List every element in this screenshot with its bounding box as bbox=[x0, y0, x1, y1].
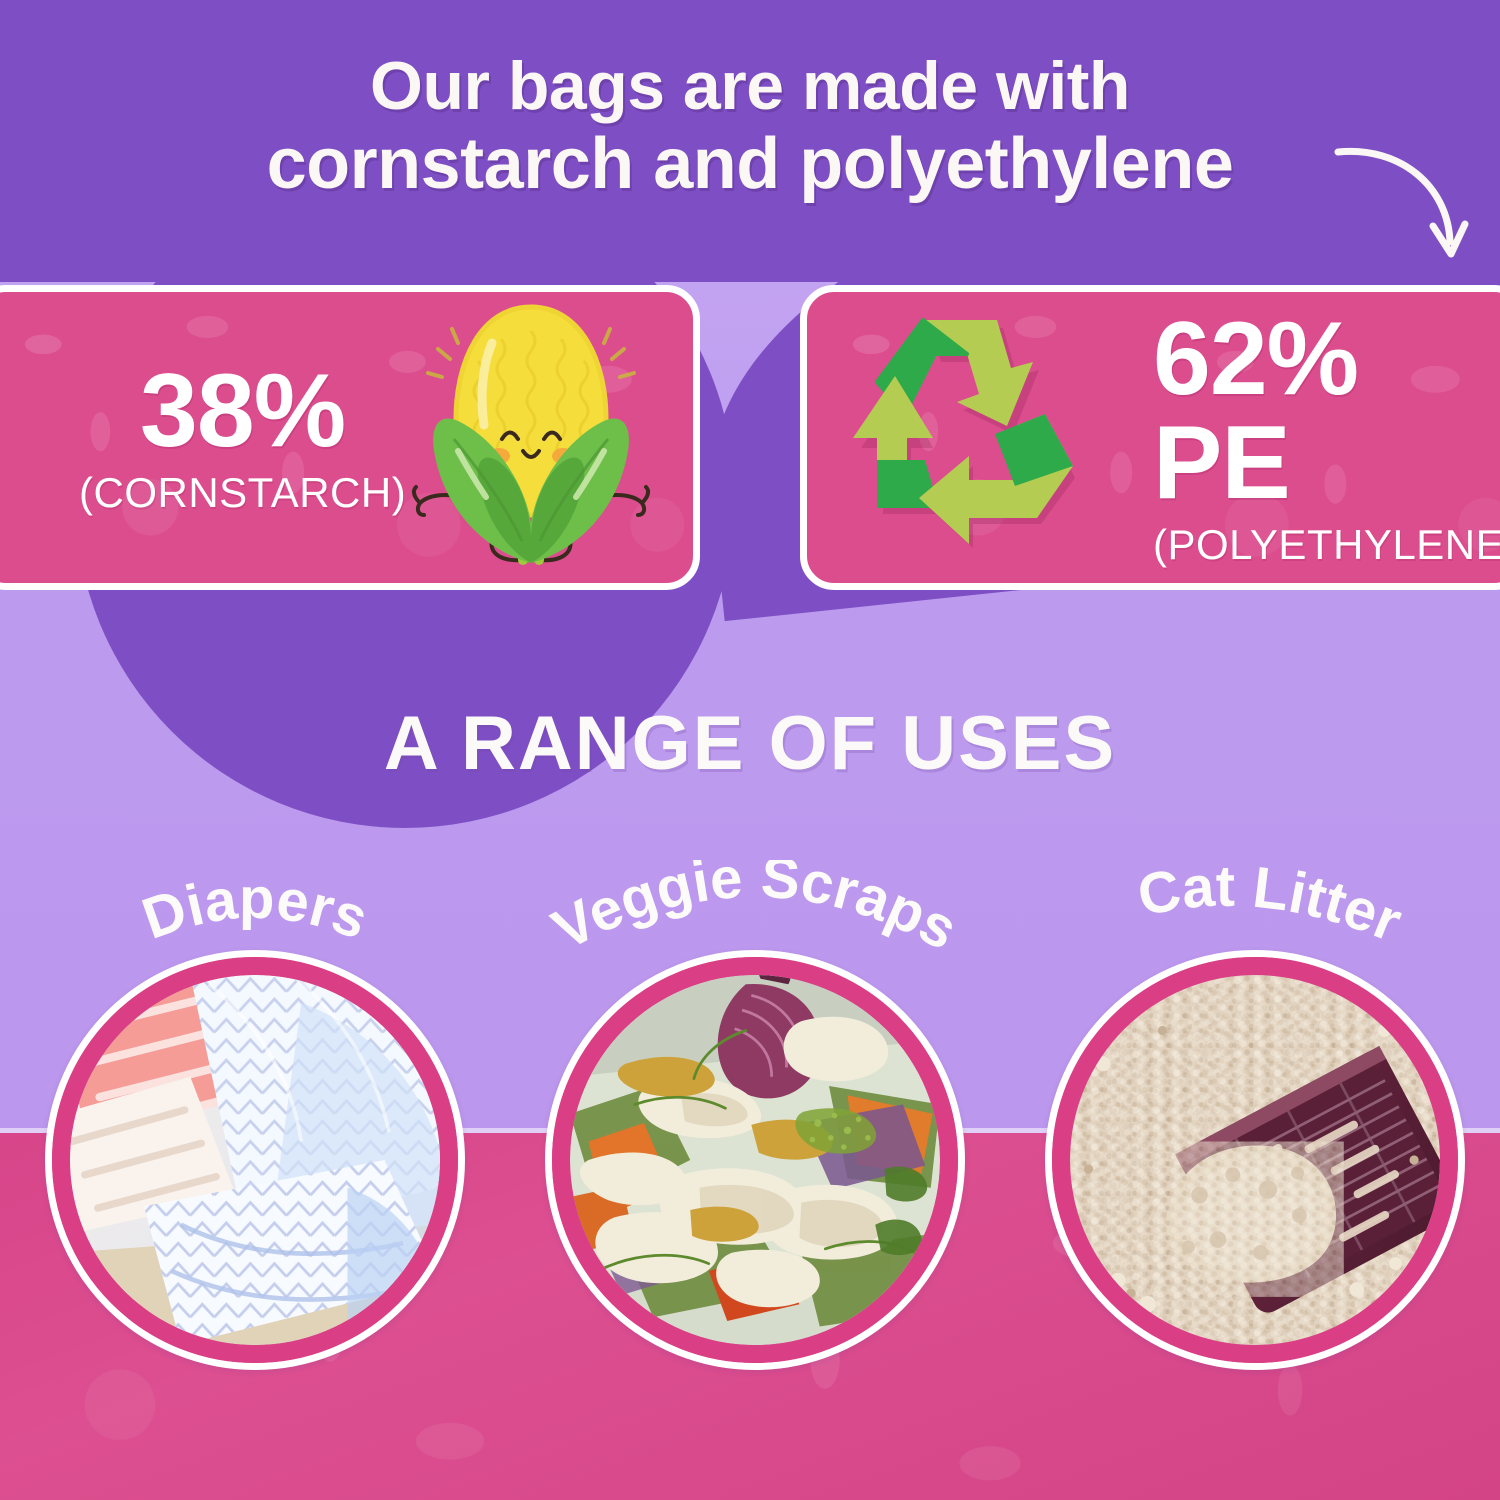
use-circle-ring bbox=[52, 957, 458, 1363]
stat-panel-cornstarch: 38% (CORNSTARCH) bbox=[0, 285, 700, 590]
page-title: Our bags are made with cornstarch and po… bbox=[0, 48, 1500, 205]
polyethylene-percent: 62% PE bbox=[1153, 307, 1500, 515]
title-line-1: Our bags are made with bbox=[370, 48, 1130, 124]
use-circle-diapers bbox=[45, 950, 465, 1370]
stat-panel-polyethylene: 62% PE (POLYETHYLENE) bbox=[800, 285, 1500, 590]
svg-text:Veggie Scraps: Veggie Scraps bbox=[542, 860, 968, 963]
use-label-text-cat-litter: Cat Litter bbox=[1132, 860, 1410, 954]
uses-row: Diapers bbox=[0, 860, 1500, 1480]
uses-heading: A RANGE OF USES bbox=[0, 700, 1500, 787]
polyethylene-material: (POLYETHYLENE) bbox=[1153, 521, 1500, 569]
cornstarch-material: (CORNSTARCH) bbox=[79, 469, 406, 517]
cat-litter-photo bbox=[1070, 975, 1440, 1345]
svg-text:Cat Litter: Cat Litter bbox=[1132, 860, 1410, 954]
svg-text:Diapers: Diapers bbox=[134, 866, 376, 952]
use-label-text-diapers: Diapers bbox=[134, 866, 376, 952]
recycle-icon bbox=[847, 310, 1117, 565]
use-label-text-veggie-scraps: Veggie Scraps bbox=[542, 860, 968, 963]
veggie-scraps-photo bbox=[570, 975, 940, 1345]
stat-cornstarch: 38% (CORNSTARCH) bbox=[79, 359, 406, 517]
stat-polyethylene: 62% PE (POLYETHYLENE) bbox=[1153, 307, 1500, 569]
diapers-photo bbox=[70, 975, 440, 1345]
curved-down-arrow-icon bbox=[1330, 130, 1480, 270]
use-circle-cat-litter bbox=[1045, 950, 1465, 1370]
title-line-2: cornstarch and polyethylene bbox=[0, 124, 1500, 205]
cornstarch-percent: 38% bbox=[79, 359, 406, 463]
corn-character-icon bbox=[406, 301, 656, 574]
use-circle-ring bbox=[552, 957, 958, 1363]
infographic-canvas: Our bags are made with cornstarch and po… bbox=[0, 0, 1500, 1500]
use-circle-veggie-scraps bbox=[545, 950, 965, 1370]
use-circle-ring bbox=[1052, 957, 1458, 1363]
